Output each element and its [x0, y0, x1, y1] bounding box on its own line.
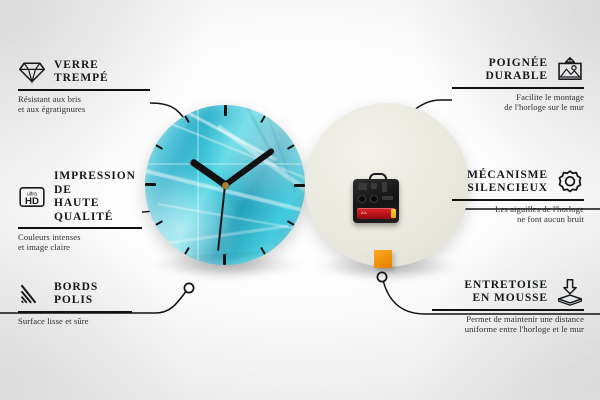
callout-verre-trempe: VERRE TREMPÉ Résistant aux bris et aux é… [18, 58, 150, 114]
movement-body: AA [353, 179, 399, 223]
callout-rule [18, 89, 150, 91]
diamond-icon [18, 58, 46, 86]
foam-spacer-arrow-icon [556, 278, 584, 306]
callout-desc: Surface lisse et sûre [18, 316, 132, 326]
infographic-canvas: AA VERRE TREMPÉ Résistant aux bris et au… [0, 0, 600, 400]
leader-dot-bords-polis [184, 283, 193, 292]
clock-tick-3 [225, 184, 305, 186]
callout-rule [452, 199, 584, 201]
callout-bords-polis: BORDS POLIS Surface lisse et sûre [18, 280, 132, 326]
battery-label: AA [361, 210, 367, 215]
callout-title: POIGNÉE DURABLE [485, 57, 548, 84]
ultra-hd-icon: ultra HD [18, 183, 46, 211]
callout-desc: Facilite le montage de l'horloge sur le … [452, 92, 584, 113]
clock-tick-9 [145, 184, 225, 186]
gear-icon [556, 168, 584, 196]
callout-desc: Permet de maintenir une distance uniform… [432, 314, 584, 335]
callout-title: VERRE TREMPÉ [54, 59, 109, 86]
callout-rule [452, 87, 584, 89]
clock-tick-12 [224, 105, 226, 185]
clock-face [145, 105, 305, 265]
wall-hanger-frame-icon [556, 56, 584, 84]
callout-rule [432, 309, 584, 311]
clock-center-cap [222, 182, 229, 189]
quartz-movement: AA [353, 173, 399, 223]
callout-entretoise-en-mousse: ENTRETOISE EN MOUSSE Permet de maintenir… [432, 278, 584, 334]
callout-desc: Couleurs intenses et image claire [18, 232, 142, 253]
callout-title: IMPRESSION DE HAUTE QUALITÉ [54, 170, 142, 224]
callout-poignee-durable: POIGNÉE DURABLE Facilite le montage de l… [452, 56, 584, 112]
callout-desc: Résistant aux bris et aux égratignures [18, 94, 150, 115]
callout-desc: Les aiguilles de l'horloge ne font aucun… [452, 204, 584, 225]
svg-text:HD: HD [25, 196, 39, 207]
callout-rule [18, 311, 132, 313]
callout-title: ENTRETOISE EN MOUSSE [464, 279, 548, 306]
callout-rule [18, 227, 142, 229]
polished-edges-icon [18, 280, 46, 308]
battery: AA [357, 208, 395, 219]
callout-mecanisme-silencieux: MÉCANISME SILENCIEUX Les aiguilles de l'… [452, 168, 584, 224]
callout-impression-haute-qualite: ultra HD IMPRESSION DE HAUTE QUALITÉ Cou… [18, 170, 142, 252]
foam-spacer [374, 250, 392, 268]
battery-terminal [391, 209, 396, 218]
callout-title: MÉCANISME SILENCIEUX [467, 169, 548, 196]
callout-title: BORDS POLIS [54, 281, 98, 308]
